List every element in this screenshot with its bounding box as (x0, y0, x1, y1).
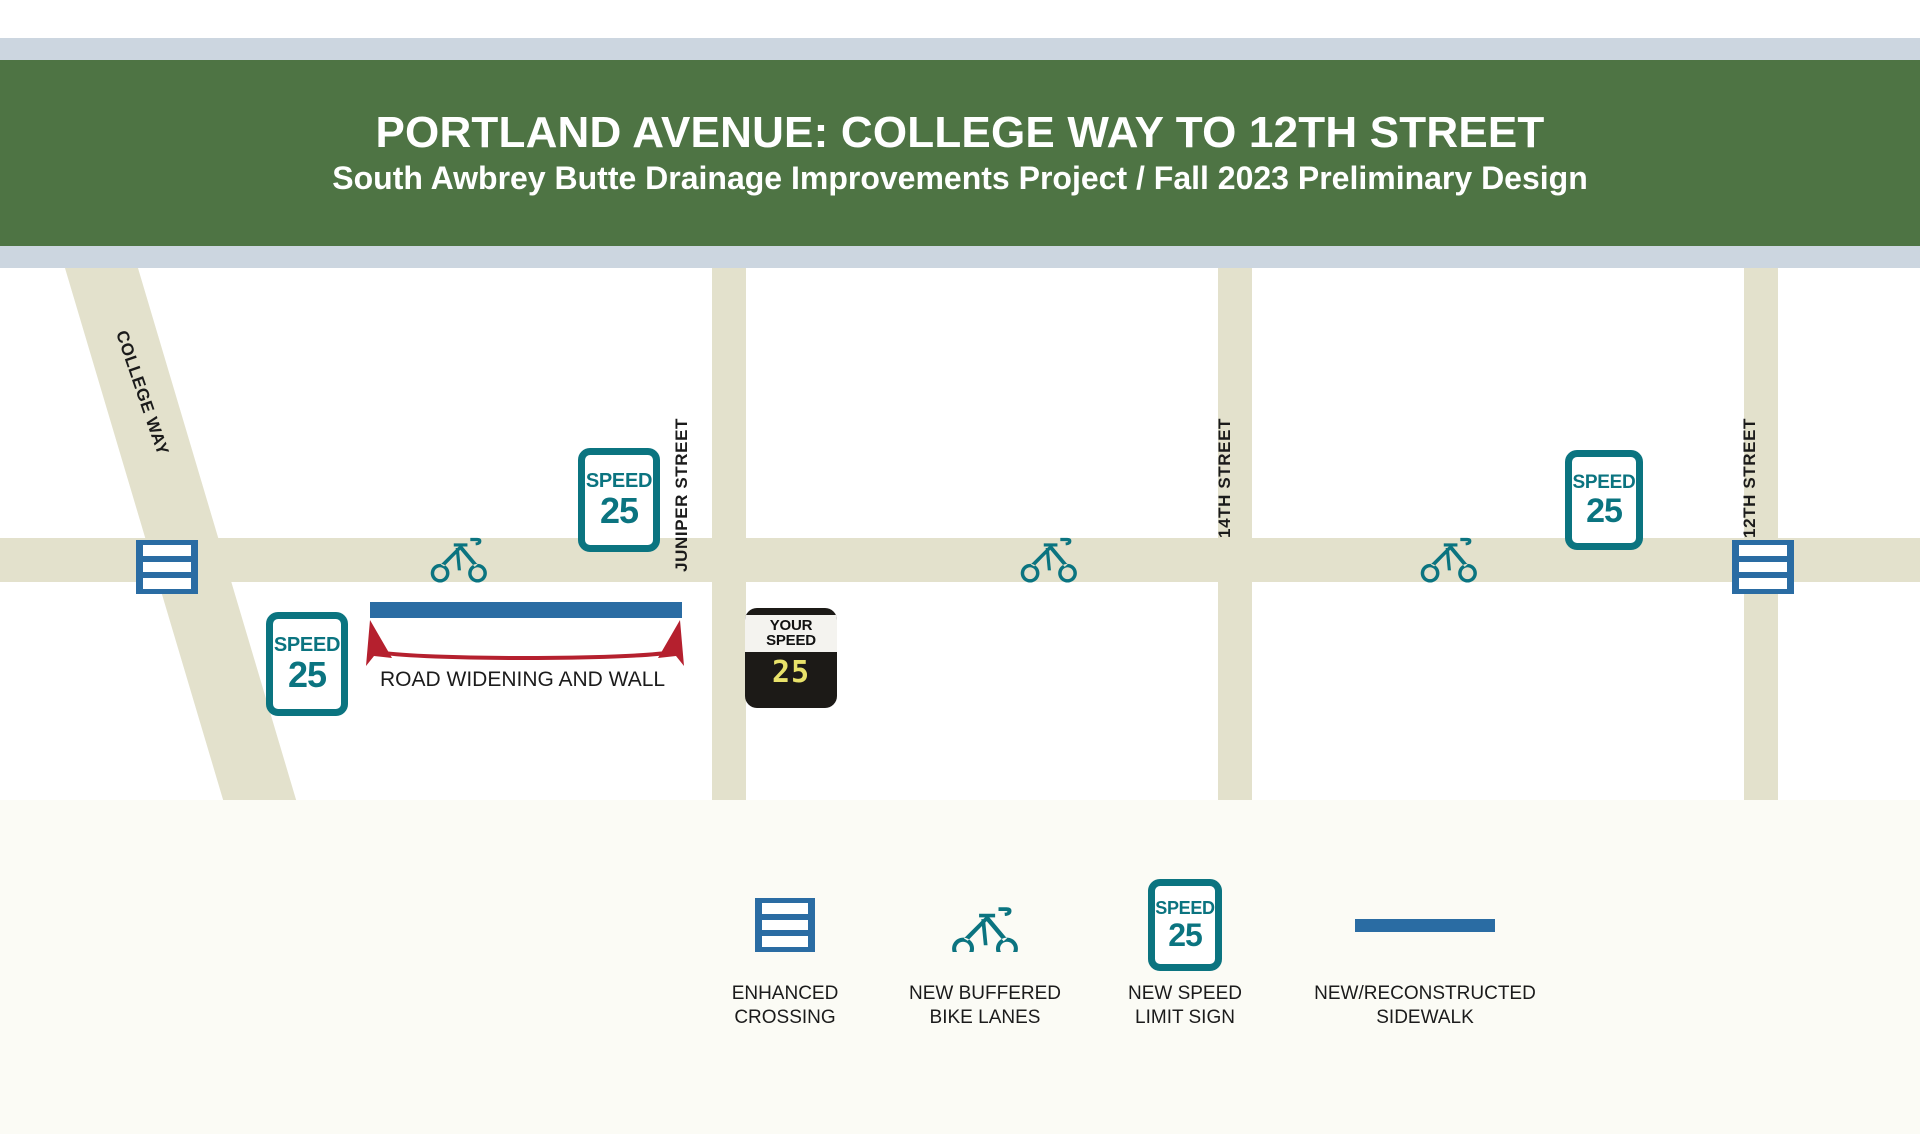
legend-label: NEW SPEED LIMIT SIGN (1060, 982, 1310, 1030)
legend-item-sidewalk: NEW/RECONSTRUCTED SIDEWALK (1300, 882, 1550, 1030)
radar-sign-value: 25 (772, 652, 810, 696)
enhanced-crossing-glyph (755, 898, 815, 952)
road-widening-label: ROAD WIDENING AND WALL (380, 668, 665, 692)
legend-item-speed-limit-sign: SPEED 25 NEW SPEED LIMIT SIGN (1060, 882, 1310, 1030)
speed-limit-sign-glyph: SPEED 25 (1148, 879, 1222, 971)
crossing-stripe (1739, 545, 1787, 556)
crossing-stripe (762, 936, 809, 947)
crossing-stripe (762, 920, 809, 931)
crossing-stripe (143, 562, 191, 573)
speed-limit-sign-icon: SPEED 25 (1060, 882, 1310, 968)
header-top-band (0, 38, 1920, 60)
street-label-juniper-street: JUNIPER STREET (672, 418, 692, 572)
infographic-map-page: PORTLAND AVENUE: COLLEGE WAY TO 12TH STR… (0, 0, 1920, 1134)
header-banner: PORTLAND AVENUE: COLLEGE WAY TO 12TH STR… (0, 60, 1920, 246)
crossing-stripe (1739, 562, 1787, 573)
legend-strip: N LEGEND CITY OF BEND (0, 800, 1920, 1134)
street-label-12th-street: 12TH STREET (1740, 418, 1760, 538)
page-subtitle: South Awbrey Butte Drainage Improvements… (332, 161, 1588, 196)
road-juniper-street (712, 268, 746, 800)
speed-limit-sign-west: SPEED 25 (266, 612, 348, 716)
crossing-stripe (1739, 578, 1787, 589)
crossing-stripe (762, 903, 809, 914)
speed-limit-sign-east: SPEED 25 (1565, 450, 1643, 550)
speed-limit-sign-juniper: SPEED 25 (578, 448, 660, 552)
bicycle-glyph (948, 898, 1022, 952)
page-title: PORTLAND AVENUE: COLLEGE WAY TO 12TH STR… (375, 110, 1544, 156)
enhanced-crossing-12th-street (1732, 540, 1794, 594)
crossing-stripe (143, 545, 191, 556)
street-label-14th-street: 14TH STREET (1215, 418, 1235, 538)
legend-label: NEW/RECONSTRUCTED SIDEWALK (1300, 982, 1550, 1030)
sidewalk-segment-bar (370, 602, 682, 618)
widening-span-line (378, 652, 672, 658)
header-bottom-band (0, 246, 1920, 268)
widening-arrow-left (366, 620, 392, 666)
enhanced-crossing-college-way (136, 540, 198, 594)
project-map: COLLEGE WAY JUNIPER STREET 14TH STREET 1… (0, 268, 1920, 800)
road-college-way (62, 268, 300, 800)
widening-arrow-right (658, 620, 684, 666)
sidewalk-bar-glyph (1355, 919, 1495, 932)
radar-speed-feedback-sign: YOUR SPEED 25 (745, 608, 837, 708)
sidewalk-bar-icon (1300, 882, 1550, 968)
radar-sign-plate: YOUR SPEED (745, 615, 837, 652)
crossing-stripe (143, 578, 191, 589)
